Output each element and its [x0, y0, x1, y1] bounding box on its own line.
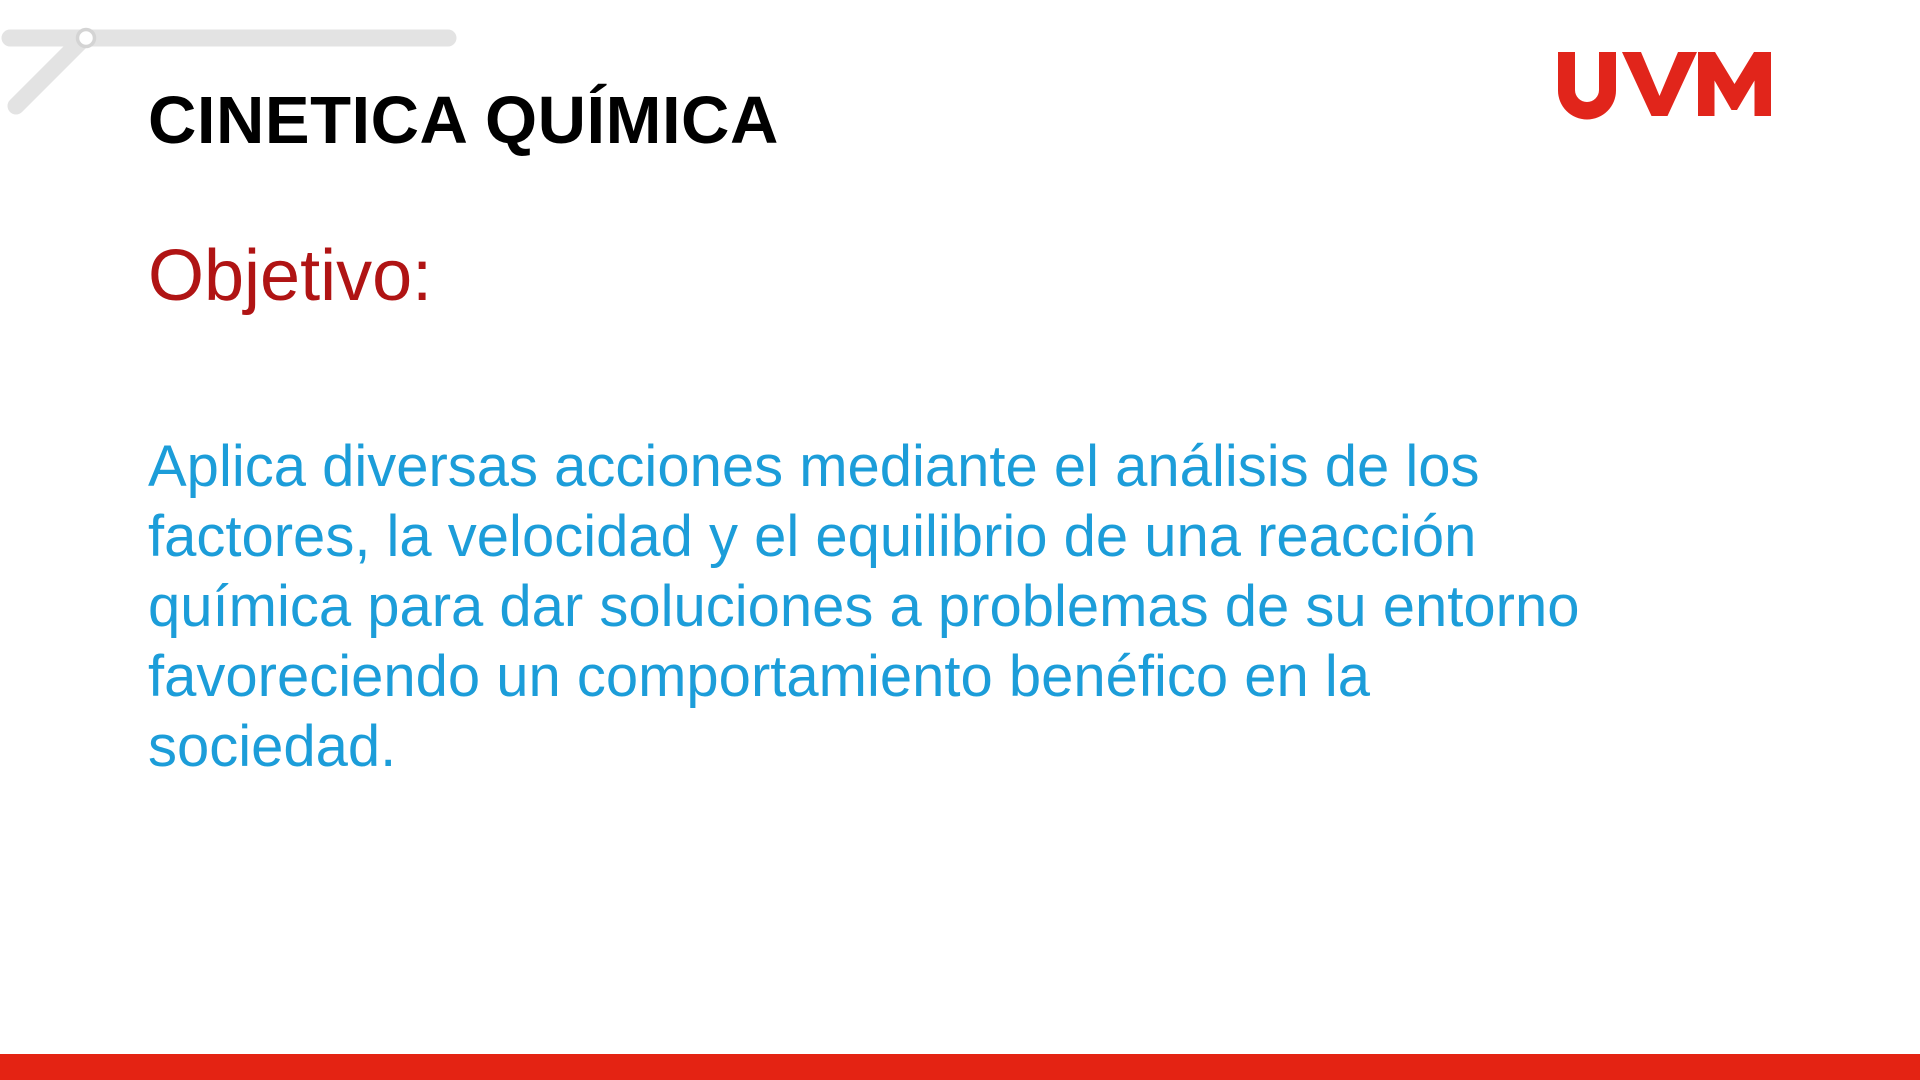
slide-canvas: CINETICA QUÍMICA Objetivo: Aplica divers…: [0, 0, 1920, 1080]
objective-body-text: Aplica diversas acciones mediante el aná…: [148, 432, 1788, 782]
decorative-node-circle: [78, 30, 95, 47]
body-line: química para dar soluciones a problemas …: [148, 572, 1788, 642]
uvm-logo: [1556, 48, 1774, 120]
uvm-logo-letter-u: [1558, 52, 1616, 119]
uvm-logo-letter-m: [1698, 52, 1771, 116]
body-line: favoreciendo un comportamiento benéfico …: [148, 642, 1788, 712]
uvm-logo-letter-v: [1622, 52, 1697, 116]
decorative-diagonal-bar: [16, 38, 84, 106]
page-title: CINETICA QUÍMICA: [148, 87, 779, 154]
objective-heading: Objetivo:: [148, 240, 432, 312]
body-line: factores, la velocidad y el equilibrio d…: [148, 502, 1788, 572]
bottom-accent-bar: [0, 1054, 1920, 1080]
body-line: Aplica diversas acciones mediante el aná…: [148, 432, 1788, 502]
body-line: sociedad.: [148, 712, 1788, 782]
